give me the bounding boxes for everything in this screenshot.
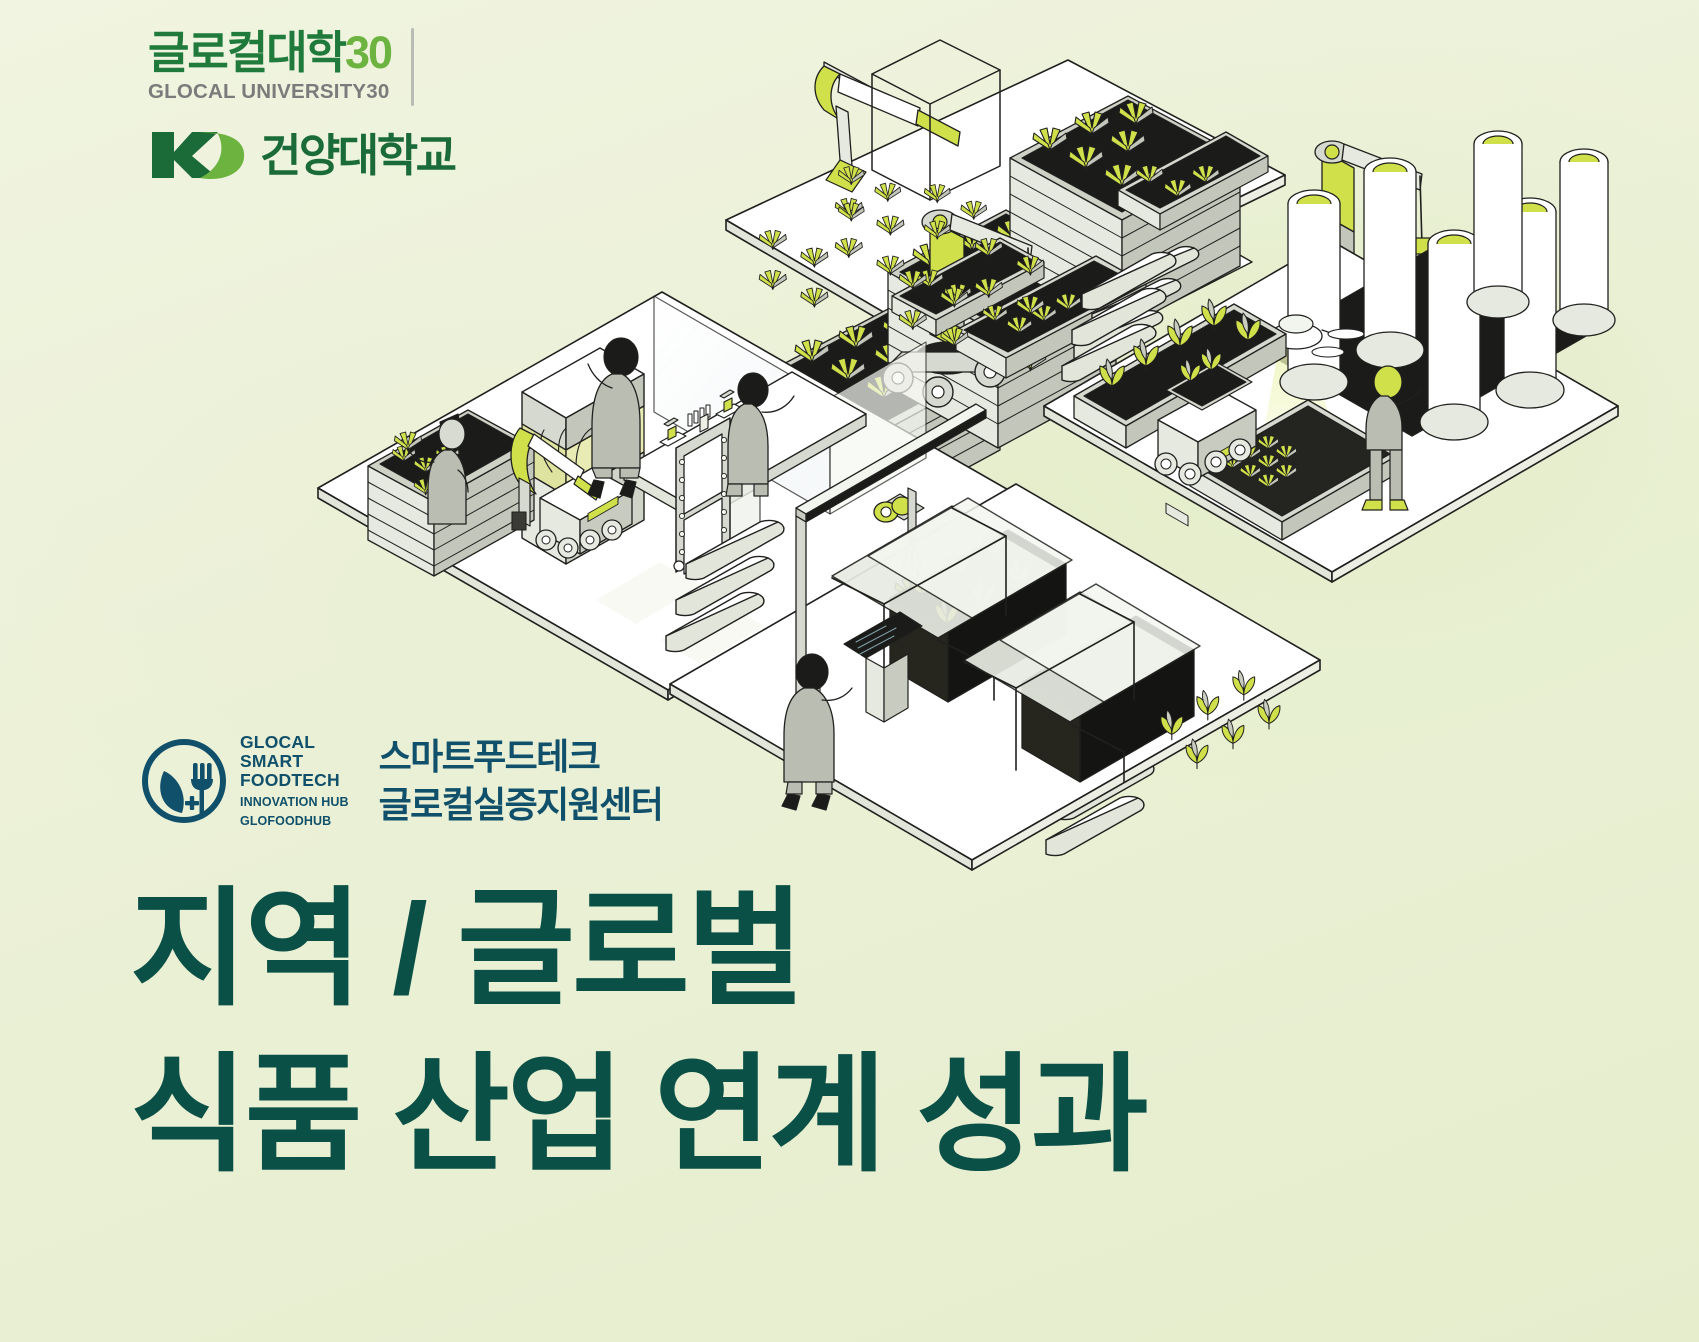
glocal-english-wordmark: GLOCAL UNIVERSITY30 [148, 80, 391, 104]
glocal-number: 30 [345, 27, 391, 78]
page-title-line-1: 지역 / 글로벌 [130, 870, 1146, 1030]
center-subtitle-line-1: 스마트푸드테크 [379, 733, 663, 781]
glofoodhub-line-3: FOODTECH [240, 771, 349, 790]
center-subtitle-line-2: 글로컬실증지원센터 [379, 781, 663, 829]
center-subtitle: 스마트푸드테크 글로컬실증지원센터 [379, 733, 663, 828]
glofoodhub-line-4: INNOVATION HUB [240, 795, 349, 809]
glocal-korean-wordmark: 글로컬대학30 [148, 30, 391, 75]
glocal-korean-text: 글로컬대학 [148, 27, 345, 78]
poster-canvas: 글로컬대학30 GLOCAL UNIVERSITY30 건양대학교 [0, 0, 1699, 1342]
glofoodhub-line-1: GLOCAL [240, 733, 349, 752]
konyang-university-logo: 건양대학교 [148, 128, 478, 182]
glofoodhub-wordmark: GLOCAL SMART FOODTECH INNOVATION HUB GLO… [240, 733, 349, 828]
glocal-university-logo: 글로컬대학30 GLOCAL UNIVERSITY30 [148, 28, 478, 106]
logo-divider [411, 28, 414, 106]
logo-lockup: 글로컬대학30 GLOCAL UNIVERSITY30 건양대학교 [148, 28, 478, 182]
background-glow-right [1020, 180, 1680, 650]
plate-leaf-fork-icon [138, 735, 230, 827]
glofoodhub-line-5: GLOFOODHUB [240, 814, 349, 828]
glofoodhub-line-2: SMART [240, 752, 349, 771]
glofoodhub-lockup: GLOCAL SMART FOODTECH INNOVATION HUB GLO… [138, 733, 662, 828]
page-title: 지역 / 글로벌 식품 산업 연계 성과 [130, 870, 1146, 1196]
konyang-university-name: 건양대학교 [260, 133, 455, 178]
ky-monogram-icon [148, 128, 248, 182]
page-title-line-2: 식품 산업 연계 성과 [130, 1036, 1146, 1196]
